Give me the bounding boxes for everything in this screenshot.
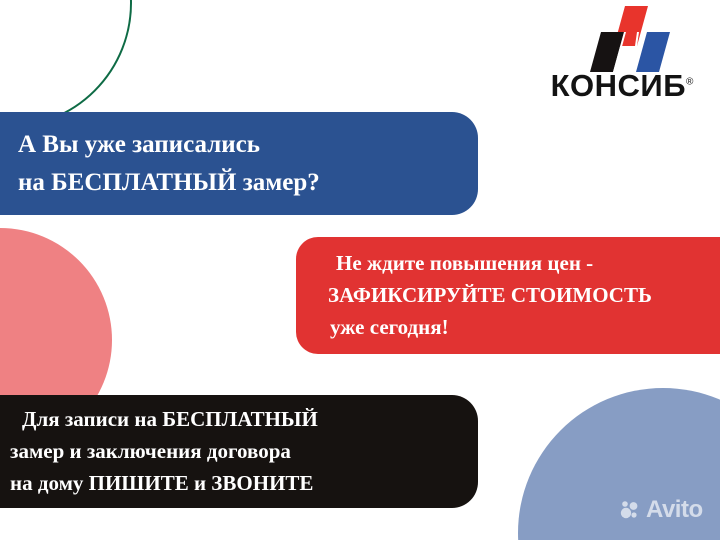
banner-blue-line-1: А Вы уже записались — [18, 126, 478, 164]
advertisement-poster: КОНСИБ® А Вы уже записались на БЕСПЛАТНЫ… — [0, 0, 720, 540]
avito-watermark: Avito — [620, 498, 703, 522]
banner-black-line-3: на дому ПИШИТЕ и ЗВОНИТЕ — [10, 467, 478, 499]
banner-blue-line-2: на БЕСПЛАТНЫЙ замер? — [18, 164, 478, 202]
company-logo: КОНСИБ® — [532, 4, 712, 108]
banner-black-line-2: замер и заключения договора — [10, 435, 478, 467]
registered-trademark-symbol: ® — [686, 77, 693, 88]
avito-wordmark: Avito — [646, 498, 703, 522]
green-circle-outline-icon — [0, 0, 132, 128]
avito-dots-icon — [620, 499, 642, 521]
banner-red-line-1: Не ждите повышения цен - — [328, 247, 720, 279]
banner-black-line-1: Для записи на БЕСПЛАТНЫЙ — [10, 403, 478, 435]
free-measurement-question-banner: А Вы уже записались на БЕСПЛАТНЫЙ замер? — [0, 112, 478, 215]
price-lock-banner: Не ждите повышения цен - ЗАФИКСИРУЙТЕ СТ… — [296, 237, 720, 354]
banner-red-line-3: уже сегодня! — [328, 311, 720, 343]
company-name: КОНСИБ® — [532, 68, 712, 104]
konsib-logo-mark-icon — [590, 6, 670, 72]
company-name-text: КОНСИБ — [551, 68, 686, 103]
contact-call-to-action-banner: Для записи на БЕСПЛАТНЫЙ замер и заключе… — [0, 395, 478, 508]
banner-red-line-2: ЗАФИКСИРУЙТЕ СТОИМОСТЬ — [328, 279, 720, 311]
